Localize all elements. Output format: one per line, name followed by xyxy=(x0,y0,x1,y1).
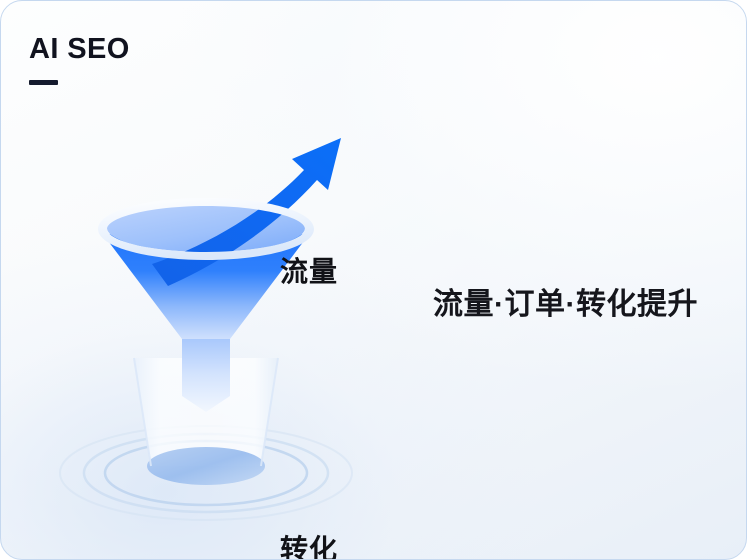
title-underline-rule xyxy=(29,80,58,85)
funnel-stem xyxy=(182,328,230,412)
funnel-illustration-svg xyxy=(56,96,466,536)
label-conversion: 转化 xyxy=(280,528,338,560)
label-traffic: 流量 xyxy=(280,250,338,290)
page-title: AI SEO xyxy=(29,35,289,64)
ai-seo-poster-card: AI SEO 流量·订单·转化提升 xyxy=(0,0,747,560)
brand-header: AI SEO xyxy=(29,35,289,85)
beaker-base-ellipse xyxy=(147,447,265,485)
funnel-illustration: 流量 转化 xyxy=(56,96,466,536)
headline-text: 流量·订单·转化提升 xyxy=(433,279,698,323)
